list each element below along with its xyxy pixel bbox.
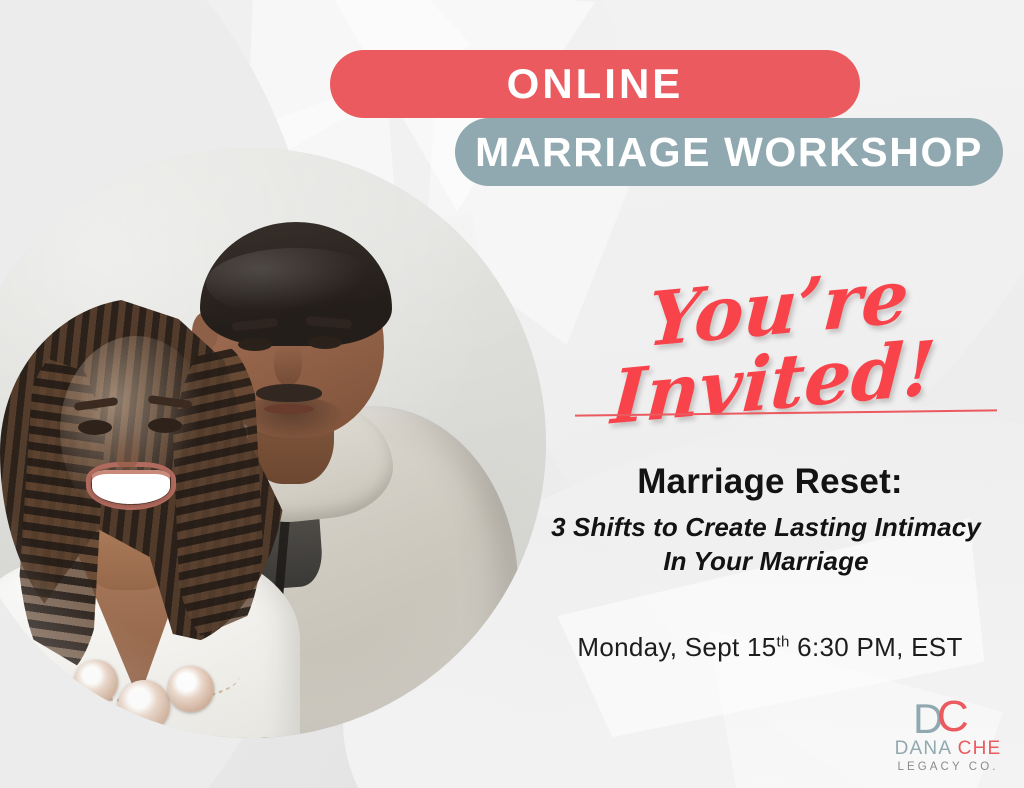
flyer-canvas: ONLINE MARRIAGE WORKSHOP You’re Invited!… [0, 0, 1024, 788]
monogram-c-letter: C [937, 697, 969, 737]
logo-name-last: CHE [958, 738, 1002, 759]
event-datetime: Monday, Sept 15th 6:30 PM, EST [520, 632, 1020, 663]
workshop-subtitle: 3 Shifts to Create Lasting Intimacy In Y… [512, 510, 1020, 579]
event-date: Monday, Sept 15 [577, 632, 776, 662]
event-time: 6:30 PM, EST [790, 632, 963, 662]
dana-che-legacy-logo: D C DANA CHE LEGACY CO. [884, 698, 1012, 782]
photo-vignette [0, 148, 546, 738]
workshop-title: Marriage Reset: [520, 462, 1020, 502]
date-ordinal-suffix: th [777, 633, 790, 650]
workshop-subtitle-line-2: In Your Marriage [663, 546, 868, 576]
dc-monogram-icon: D C [907, 698, 989, 738]
couple-portrait-photo [0, 148, 546, 738]
logo-brand-name: DANA CHE [884, 739, 1012, 759]
logo-tagline: LEGACY CO. [884, 761, 1012, 773]
banner-online: ONLINE [330, 50, 860, 118]
banner-marriage-workshop: MARRIAGE WORKSHOP [455, 118, 1003, 186]
workshop-subtitle-line-1: 3 Shifts to Create Lasting Intimacy [551, 512, 981, 542]
